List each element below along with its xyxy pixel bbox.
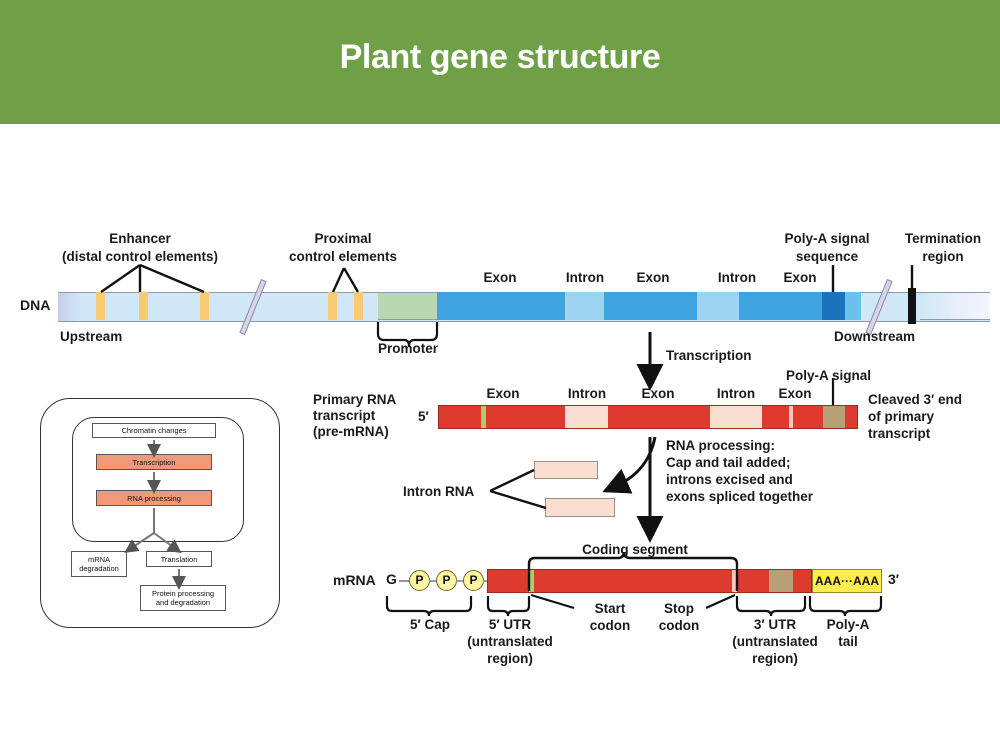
dna-exon-3 (739, 292, 822, 320)
dna-exon-label-2: Exon (616, 270, 690, 285)
mrna-strand (487, 569, 812, 593)
dna-row-label: DNA (20, 298, 50, 313)
pre-mrna-exon-label-1: Exon (455, 386, 551, 401)
phosphate-1: P (409, 570, 430, 591)
mrna-row-label: mRNA (333, 573, 376, 588)
pre-mrna-exon-label-2: Exon (621, 386, 695, 401)
inset-protein-line1: Protein processing (152, 589, 214, 598)
dna-polya-signal-sequence (822, 292, 845, 320)
upstream-label: Upstream (60, 329, 122, 344)
stop-codon-leader (706, 595, 735, 608)
inset-transcription-box: Transcription (96, 454, 212, 470)
cleaved-end-line1: Cleaved 3′ end (868, 392, 962, 407)
intron-excision-arrow (616, 437, 655, 486)
proximal-label-line1: Proximal (278, 231, 408, 246)
pre-mrna-stop-marker (789, 406, 793, 428)
inset-translation-box: Translation (146, 551, 212, 567)
pre-mrna-polya-signal (823, 406, 845, 428)
dna-exon-label-3: Exon (766, 270, 834, 285)
polya-tail-bracket (810, 596, 881, 616)
pre-mrna-intron-label-1: Intron (550, 386, 624, 401)
proximal-label-line2: control elements (278, 249, 408, 264)
termination-label-line1: Termination (890, 231, 996, 246)
termination-label-line2: region (890, 249, 996, 264)
five-utr-label-line2: (untranslated (446, 634, 574, 649)
five-utr-label-line3: region) (446, 651, 574, 666)
polya-tail-label-line2: tail (812, 634, 884, 649)
mrna-polya-signal (769, 570, 793, 592)
polya-tail-label-line1: Poly-A (812, 617, 884, 632)
pre-mrna-intron-1 (565, 406, 608, 428)
proximal-control-element-1 (328, 292, 337, 320)
enhancer-leader (101, 265, 204, 292)
dna-post-polya (845, 292, 861, 320)
promoter-label: Promoter (358, 341, 458, 356)
transcription-label: Transcription (666, 348, 752, 363)
pre-mrna-start-marker (481, 406, 486, 428)
dna-strand-fade (920, 292, 990, 320)
dna-exon-2 (604, 292, 697, 320)
start-codon-leader (531, 595, 574, 608)
start-codon-label-line2: codon (578, 618, 642, 633)
pre-mrna-label-line3: (pre-mRNA) (313, 424, 389, 439)
rna-processing-line1: RNA processing: (666, 438, 775, 453)
pre-mrna-strand (438, 405, 858, 429)
page-title: Plant gene structure (0, 38, 1000, 77)
proximal-control-element-2 (354, 292, 363, 320)
phosphate-2: P (436, 570, 457, 591)
pre-mrna-exon-label-3: Exon (765, 386, 825, 401)
cleaved-end-line2: of primary (868, 409, 934, 424)
proximal-leader (333, 268, 358, 292)
pre-mrna-intron-label-2: Intron (700, 386, 772, 401)
mrna-g-cap: G (386, 572, 397, 587)
inset-mrna-degradation-box: mRNA degradation (71, 551, 127, 577)
mrna-start-codon-marker (529, 570, 534, 592)
intron-rna-box-1 (534, 461, 598, 479)
polya-signal-seq-label-line2: sequence (769, 249, 885, 264)
mrna-polya-tail: AAA···AAA (812, 569, 882, 593)
inset-protein-processing-box: Protein processing and degradation (140, 585, 226, 611)
pre-mrna-polya-signal-label: Poly-A signal (786, 368, 871, 383)
stop-codon-label-line1: Stop (648, 601, 710, 616)
pre-mrna-five-prime: 5′ (418, 409, 429, 424)
distal-control-element-2 (139, 292, 148, 320)
dna-exon-1 (437, 292, 565, 320)
pre-mrna-label-line2: transcript (313, 408, 375, 423)
polya-signal-seq-label-line1: Poly-A signal (769, 231, 885, 246)
downstream-label: Downstream (834, 329, 915, 344)
cleaved-end-line3: transcript (868, 426, 930, 441)
rna-processing-line2: Cap and tail added; (666, 455, 791, 470)
enhancer-label-line2: (distal control elements) (20, 249, 260, 264)
five-utr-label-line1: 5′ UTR (455, 617, 565, 632)
slide-root: Plant gene structure DNA Enhancer (dista… (0, 0, 1000, 750)
dna-exon-label-1: Exon (440, 270, 560, 285)
stop-codon-label-line2: codon (648, 618, 710, 633)
dna-intron-1 (565, 292, 604, 320)
dna-intron-label-1: Intron (548, 270, 622, 285)
dna-intron-label-2: Intron (700, 270, 774, 285)
five-cap-bracket (387, 596, 471, 616)
mrna-stop-codon-marker (732, 570, 737, 592)
phosphate-3: P (463, 570, 484, 591)
pre-mrna-label-line1: Primary RNA (313, 392, 396, 407)
three-utr-bracket (737, 596, 805, 616)
coding-segment-label: Coding segment (520, 542, 750, 557)
inset-rna-processing-box: RNA processing (96, 490, 212, 506)
termination-region-bar (908, 288, 916, 324)
mrna-three-prime: 3′ (888, 572, 899, 587)
three-utr-label-line3: region) (711, 651, 839, 666)
distal-control-element-3 (200, 292, 209, 320)
five-utr-bracket (488, 596, 529, 616)
promoter-segment (378, 292, 437, 320)
dna-intron-2 (697, 292, 739, 320)
title-banner: Plant gene structure (0, 0, 1000, 124)
inset-mrna-degradation-line1: mRNA (88, 555, 110, 564)
inset-mrna-degradation-line2: degradation (79, 564, 119, 573)
pre-mrna-intron-2 (710, 406, 762, 428)
start-codon-label-line1: Start (578, 601, 642, 616)
inset-chromatin-changes-box: Chromatin changes (92, 423, 216, 438)
distal-control-element-1 (96, 292, 105, 320)
intron-rna-box-2 (545, 498, 615, 517)
inset-protein-line2: and degradation (156, 598, 210, 607)
intron-rna-label: Intron RNA (403, 484, 474, 499)
rna-processing-line4: exons spliced together (666, 489, 813, 504)
enhancer-label-line1: Enhancer (45, 231, 235, 246)
rna-processing-line3: introns excised and (666, 472, 793, 487)
